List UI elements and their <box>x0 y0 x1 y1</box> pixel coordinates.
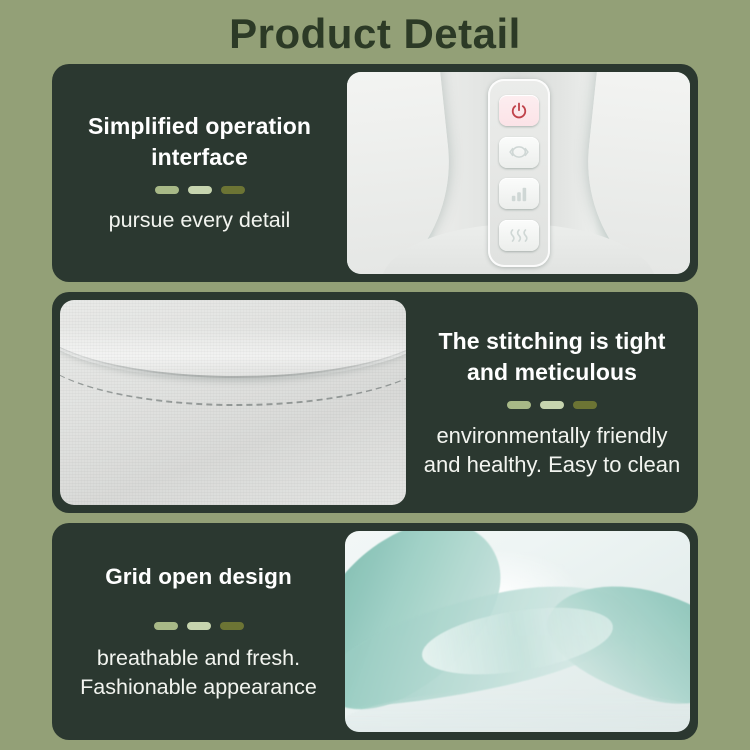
panel-photo-background <box>347 72 690 274</box>
heat-waves-button[interactable] <box>499 220 539 251</box>
card-text-pane: Simplified operation interface pursue ev… <box>52 64 347 282</box>
card-headline: Simplified operation interface <box>62 111 337 173</box>
fabric-highlight <box>60 300 406 380</box>
divider-dash-3 <box>573 401 597 409</box>
divider-dash-1 <box>154 622 178 630</box>
divider-dash-2 <box>187 622 211 630</box>
fabric-photo-background <box>60 300 406 505</box>
page-title: Product Detail <box>0 6 750 62</box>
button-bezel <box>488 79 550 267</box>
divider-dash-2 <box>188 186 212 194</box>
card-text-pane: The stitching is tight and meticulous en… <box>406 292 698 513</box>
feature-card-stitching: The stitching is tight and meticulous en… <box>52 292 698 513</box>
rotation-button[interactable] <box>499 137 539 168</box>
divider-dashes <box>154 622 244 630</box>
silk-photo-background <box>345 531 690 732</box>
mint-silk-photo <box>345 531 690 732</box>
divider-dashes <box>507 401 597 409</box>
card-subline: pursue every detail <box>109 206 291 235</box>
divider-dash-2 <box>540 401 564 409</box>
card-subline: environmentally friendly and healthy. Ea… <box>416 421 688 479</box>
level-bars-button[interactable] <box>499 178 539 209</box>
divider-dash-3 <box>221 186 245 194</box>
stitched-fabric-photo <box>60 300 406 505</box>
feature-card-grid-open-design: Grid open design breathable and fresh. F… <box>52 523 698 740</box>
divider-dash-1 <box>507 401 531 409</box>
divider-dash-1 <box>155 186 179 194</box>
control-panel-photo <box>347 72 690 274</box>
fabric-stitch-line <box>60 300 406 406</box>
card-headline: Grid open design <box>105 561 292 592</box>
power-button[interactable] <box>499 95 539 126</box>
card-subline: breathable and fresh. Fashionable appear… <box>62 644 335 702</box>
divider-dash-3 <box>220 622 244 630</box>
product-detail-page: Product Detail Simplified operation inte… <box>0 0 750 750</box>
divider-dashes <box>155 186 245 194</box>
card-text-pane: Grid open design breathable and fresh. F… <box>52 523 345 740</box>
card-headline: The stitching is tight and meticulous <box>416 326 688 388</box>
feature-card-simplified-operation: Simplified operation interface pursue ev… <box>52 64 698 282</box>
fabric-seam-line <box>60 300 406 378</box>
